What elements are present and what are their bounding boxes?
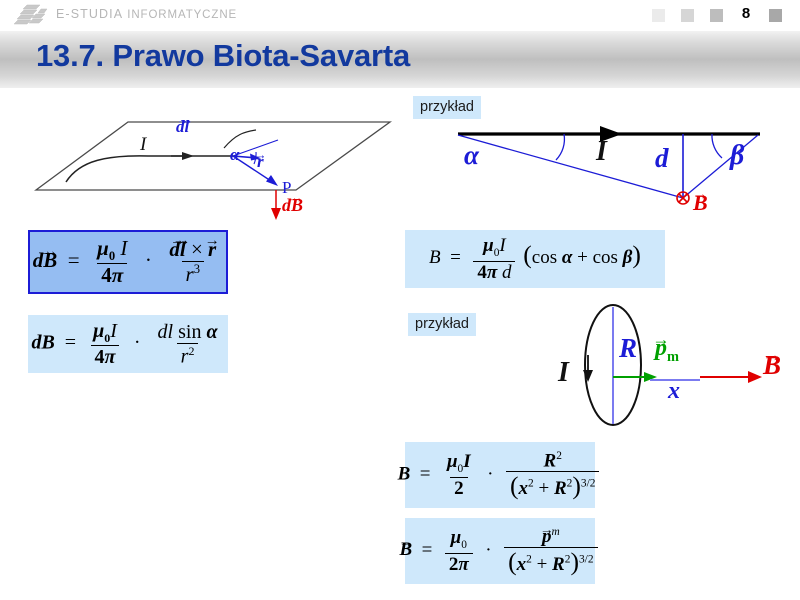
loop-dipole-field-formula: →B = μ0 2π · →pm (x2 + R2)3/2 bbox=[405, 518, 595, 584]
example-label-2: przykład bbox=[408, 313, 476, 336]
current-label: I bbox=[139, 134, 148, 155]
header-decor-square bbox=[681, 9, 694, 22]
dB-vector-label: →d→B bbox=[282, 196, 303, 214]
brand-text: E-STUDIA INFORMATYCZNE bbox=[56, 7, 237, 21]
brand-primary: E-STUDIA bbox=[56, 7, 123, 21]
example-label-1: przykład bbox=[413, 96, 481, 119]
biot-savart-element-diagram: I P →d→l α →r →d→B bbox=[28, 100, 398, 225]
brand-secondary: INFORMATYCZNE bbox=[127, 9, 237, 21]
page-title: 13.7. Prawo Biota-Savarta bbox=[36, 38, 410, 74]
current-label: I bbox=[558, 359, 569, 387]
biot-savart-vector-formula: →d→B = μ0 I 4π · →d→l × →r r3 bbox=[28, 230, 228, 294]
B-vector-label: →B bbox=[763, 352, 781, 379]
current-loop-diagram: I R →pm x →B bbox=[540, 300, 800, 430]
r-vector-label: →r bbox=[257, 153, 264, 170]
radius-label: R bbox=[619, 335, 637, 362]
stacked-parallelograms-logo-icon bbox=[14, 4, 50, 26]
distance-label: d bbox=[655, 145, 669, 172]
biot-savart-scalar-formula: dB = μ0I 4π · dl sin α r2 bbox=[28, 315, 228, 373]
header-decor-square bbox=[769, 9, 782, 22]
alpha-label: α bbox=[464, 142, 479, 169]
current-label: I bbox=[596, 138, 607, 166]
magnetic-moment-label: →pm bbox=[655, 336, 679, 364]
slide-root: E-STUDIA INFORMATYCZNE 8 13.7. Prawo Bio… bbox=[0, 0, 800, 600]
axis-x-label: x bbox=[668, 379, 680, 403]
header-decor-square bbox=[710, 9, 723, 22]
header-bar: E-STUDIA INFORMATYCZNE 8 bbox=[0, 0, 800, 30]
straight-wire-field-formula: B = μ0I 4π d (cos α + cos β) bbox=[405, 230, 665, 288]
header-decor-square bbox=[652, 9, 665, 22]
straight-wire-angles-diagram: α I d β →B bbox=[440, 120, 790, 220]
title-band: 13.7. Prawo Biota-Savarta bbox=[0, 31, 800, 89]
angle-alpha-label: α bbox=[230, 146, 239, 163]
page-number: 8 bbox=[736, 5, 756, 22]
beta-label: β bbox=[730, 142, 744, 170]
B-vector-label: →B bbox=[693, 192, 708, 214]
dl-vector-label: →d→l bbox=[176, 118, 189, 135]
loop-axial-field-formula: B = μ0I 2 · R2 (x2 + R2)3/2 bbox=[405, 442, 595, 508]
